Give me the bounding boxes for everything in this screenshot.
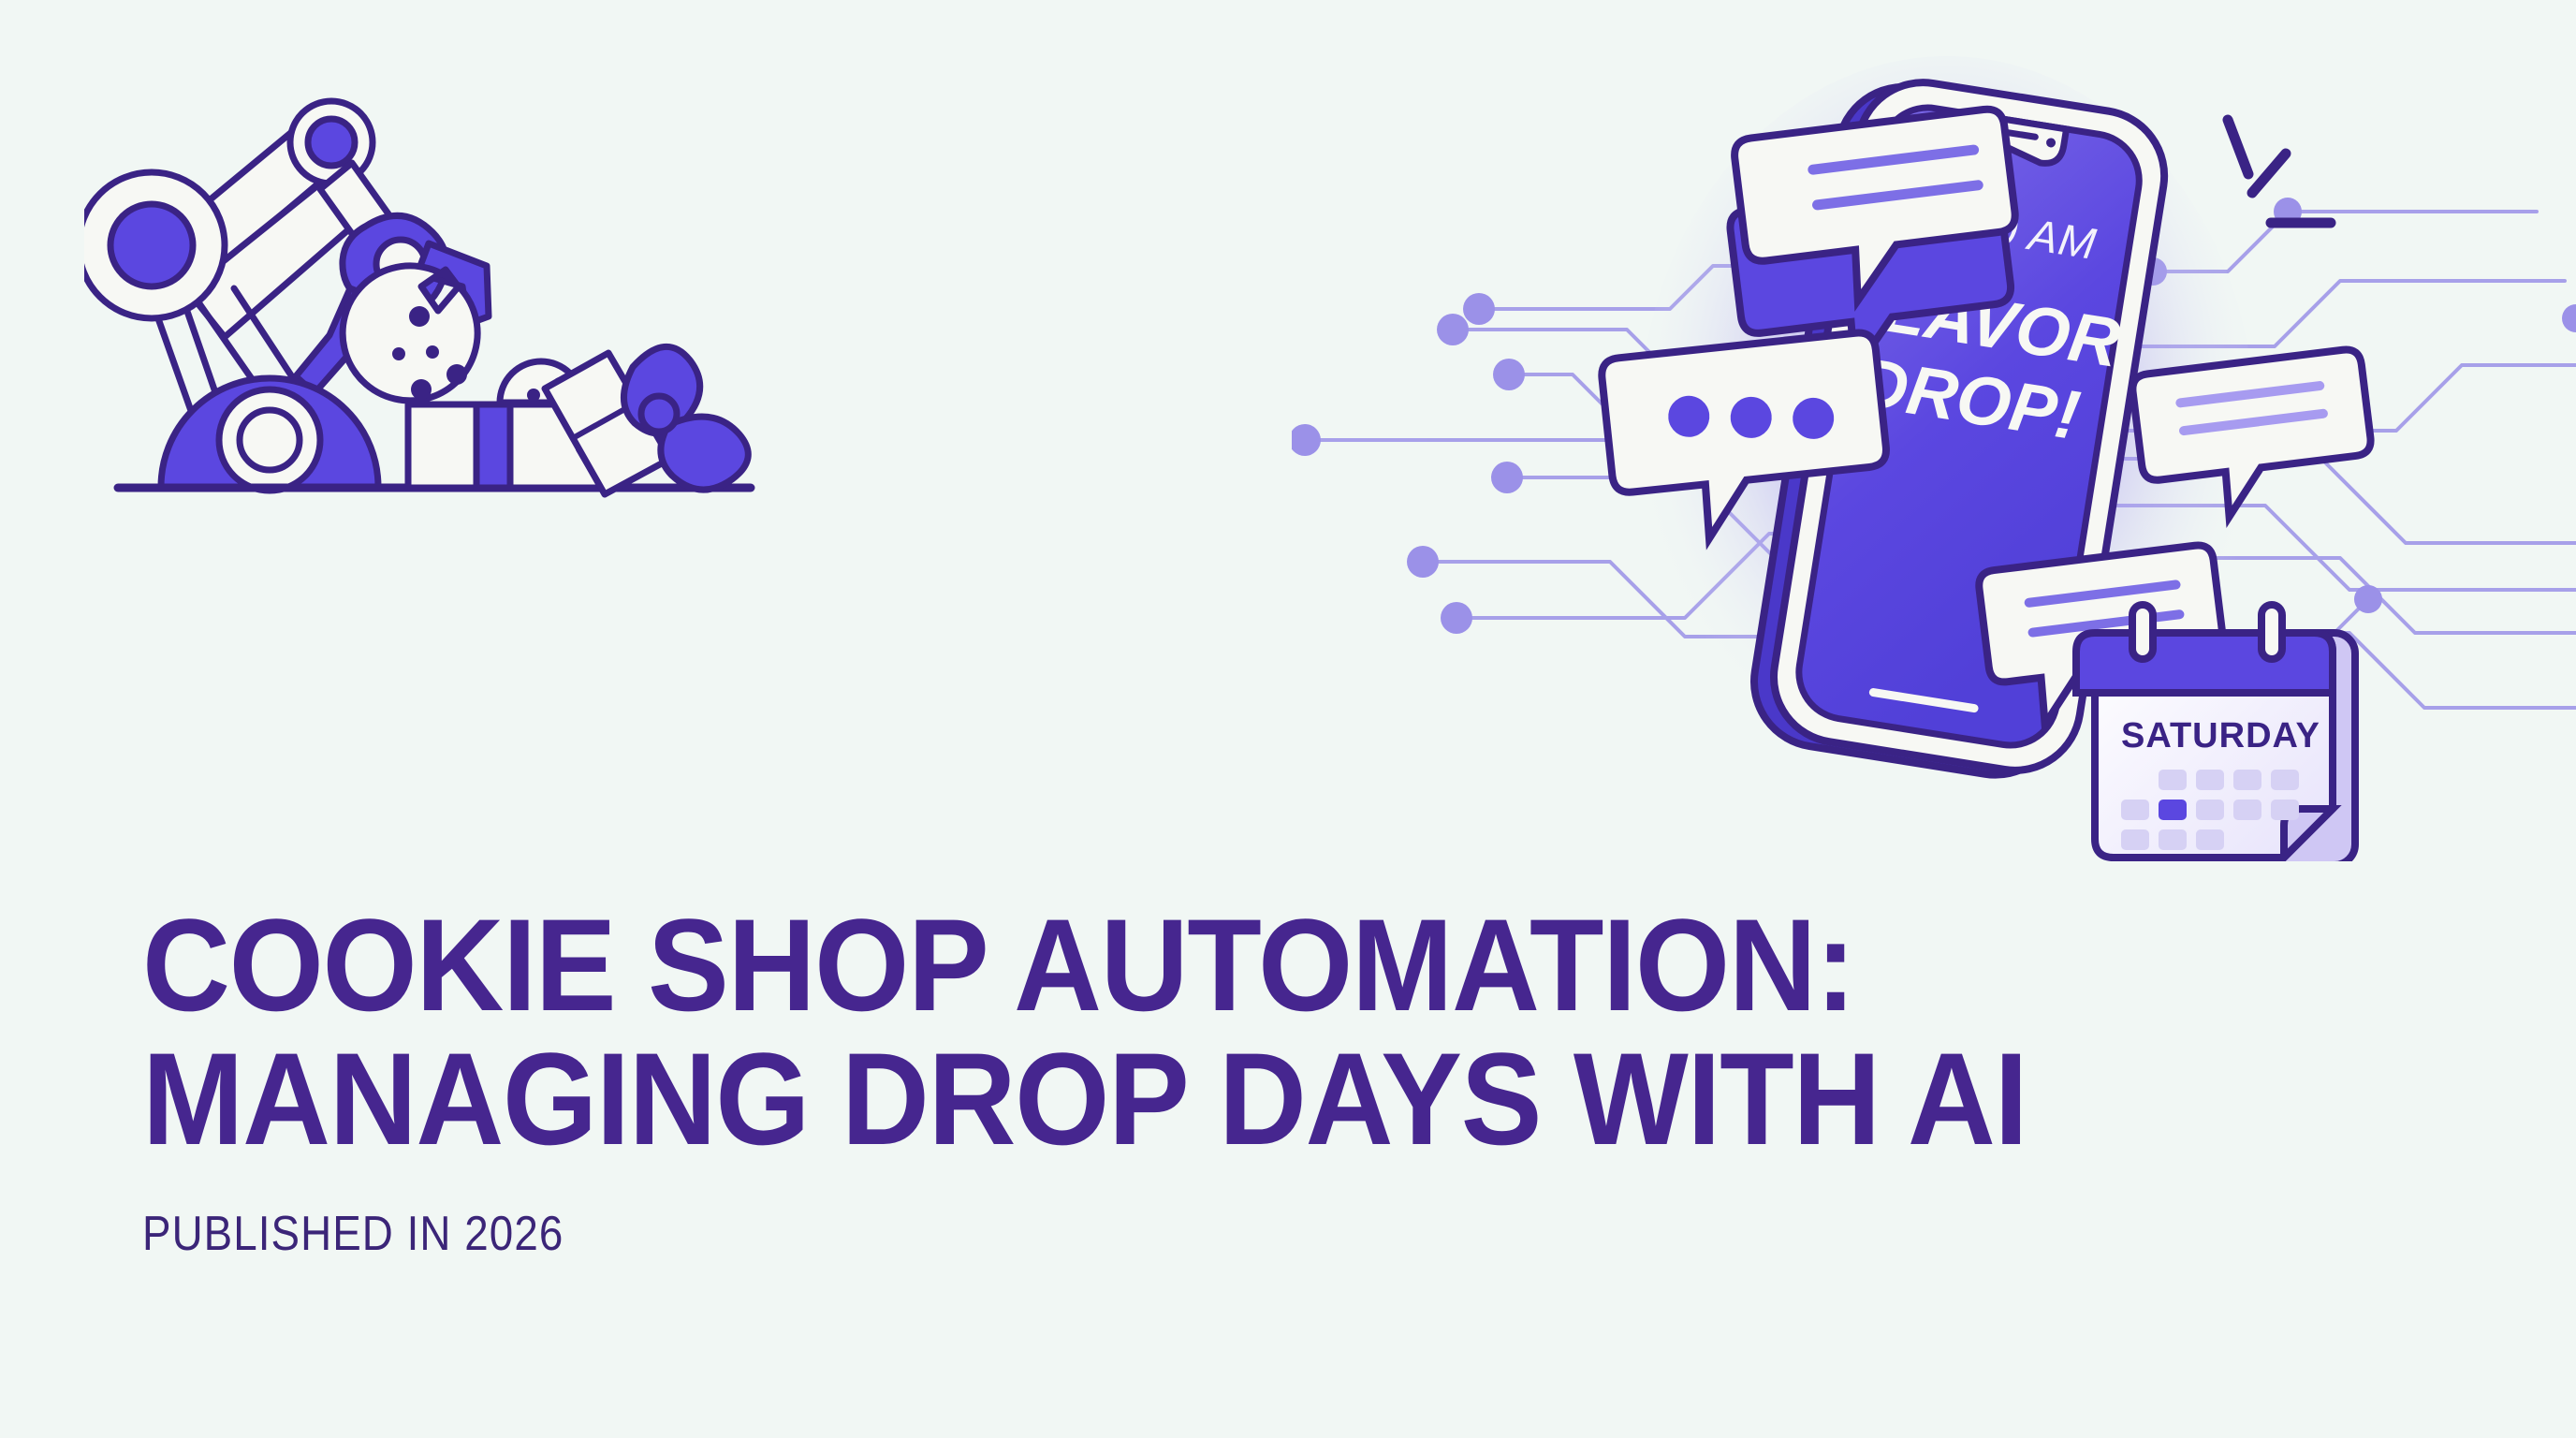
- publish-date-label: PUBLISHED IN 2026: [142, 1206, 2136, 1262]
- calendar-icon: SATURDAY: [2076, 605, 2355, 861]
- robot-arm-illustration: [84, 66, 796, 552]
- phone-notification-illustration: 10:00 AM FLAVOR DROP!: [1292, 37, 2576, 861]
- page-title-line2: MANAGING DROP DAYS WITH AI: [142, 1033, 2249, 1167]
- robot-arm-icon: [84, 66, 796, 552]
- poster-canvas: 10:00 AM FLAVOR DROP!: [0, 0, 2576, 1438]
- headline-block: COOKIE SHOP AUTOMATION: MANAGING DROP DA…: [142, 899, 2408, 1262]
- page-title-line1: COOKIE SHOP AUTOMATION:: [142, 899, 2249, 1033]
- calendar-cell-highlight: [2159, 800, 2187, 820]
- smartphone-icon: 10:00 AM FLAVOR DROP!: [1292, 37, 2576, 861]
- calendar-day-label: SATURDAY: [2121, 716, 2320, 756]
